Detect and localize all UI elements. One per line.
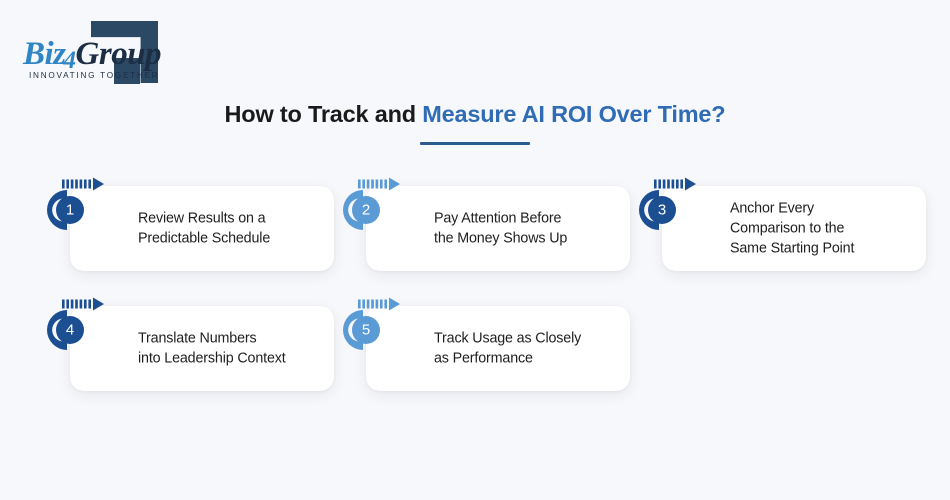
- card-cell: Track Usage as Closely as Performance: [334, 296, 630, 391]
- card-label: Translate Numbers into Leadership Contex…: [138, 328, 322, 369]
- step-badge-graphic: 2: [334, 176, 406, 238]
- card-label: Track Usage as Closely as Performance: [434, 328, 618, 369]
- card-label-line: Review Results on a: [138, 208, 322, 228]
- badge-number: 2: [362, 202, 370, 219]
- card-label-line: into Leadership Context: [138, 349, 322, 369]
- page-title-plain: How to Track and: [225, 101, 423, 127]
- logo-text-group: Group: [76, 36, 162, 72]
- card-label-line: Same Starting Point: [730, 239, 914, 259]
- card-label-line: Comparison to the: [730, 218, 914, 238]
- striped-arrow-icon: [62, 178, 104, 191]
- striped-arrow-icon: [358, 178, 400, 191]
- card-label-line: Translate Numbers: [138, 328, 322, 348]
- card-cell: Review Results on a Predictable Schedule: [38, 176, 334, 271]
- card-cell: Pay Attention Before the Money Shows Up: [334, 176, 630, 271]
- badge-number: 1: [66, 202, 74, 219]
- striped-arrow-icon: [62, 298, 104, 311]
- step-badge: 5: [334, 296, 406, 358]
- card-label: Anchor Every Comparison to the Same Star…: [730, 198, 914, 259]
- step-badge-graphic: 3: [630, 176, 702, 238]
- card-cell: Anchor Every Comparison to the Same Star…: [630, 176, 926, 271]
- card-label-line: Anchor Every: [730, 198, 914, 218]
- cards-row-top: Review Results on a Predictable Schedule: [38, 176, 918, 271]
- step-badge: 2: [334, 176, 406, 238]
- step-badge: 1: [38, 176, 110, 238]
- brand-logo: Biz4Group INNOVATING TOGETHER: [18, 16, 218, 96]
- page-title-accent: Measure AI ROI Over Time?: [422, 101, 725, 127]
- page-title: How to Track and Measure AI ROI Over Tim…: [0, 100, 950, 129]
- page-title-block: How to Track and Measure AI ROI Over Tim…: [0, 100, 950, 145]
- logo-wordmark: Biz4Group: [23, 36, 161, 73]
- step-badge-graphic: 1: [38, 176, 110, 238]
- card-label-line: the Money Shows Up: [434, 229, 618, 249]
- card-cell-empty: [630, 296, 926, 391]
- card-label-line: Predictable Schedule: [138, 229, 322, 249]
- cards-row-bottom: Translate Numbers into Leadership Contex…: [38, 296, 918, 391]
- striped-arrow-icon: [358, 298, 400, 311]
- card-label-line: Track Usage as Closely: [434, 328, 618, 348]
- step-badge-graphic: 4: [38, 296, 110, 358]
- card-label-line: Pay Attention Before: [434, 208, 618, 228]
- cards-grid: Review Results on a Predictable Schedule: [38, 176, 918, 391]
- badge-number: 5: [362, 322, 370, 339]
- logo-text-biz: Biz: [23, 36, 66, 72]
- card-label: Review Results on a Predictable Schedule: [138, 208, 322, 249]
- logo-tagline: INNOVATING TOGETHER: [29, 71, 159, 80]
- step-badge-graphic: 5: [334, 296, 406, 358]
- logo-text-four: 4: [64, 47, 76, 74]
- card-cell: Translate Numbers into Leadership Contex…: [38, 296, 334, 391]
- striped-arrow-icon: [654, 178, 696, 191]
- card-label-line: as Performance: [434, 349, 618, 369]
- title-underline: [420, 142, 530, 145]
- card-label: Pay Attention Before the Money Shows Up: [434, 208, 618, 249]
- badge-number: 3: [658, 202, 666, 219]
- step-badge: 4: [38, 296, 110, 358]
- badge-number: 4: [66, 322, 74, 339]
- step-badge: 3: [630, 176, 702, 238]
